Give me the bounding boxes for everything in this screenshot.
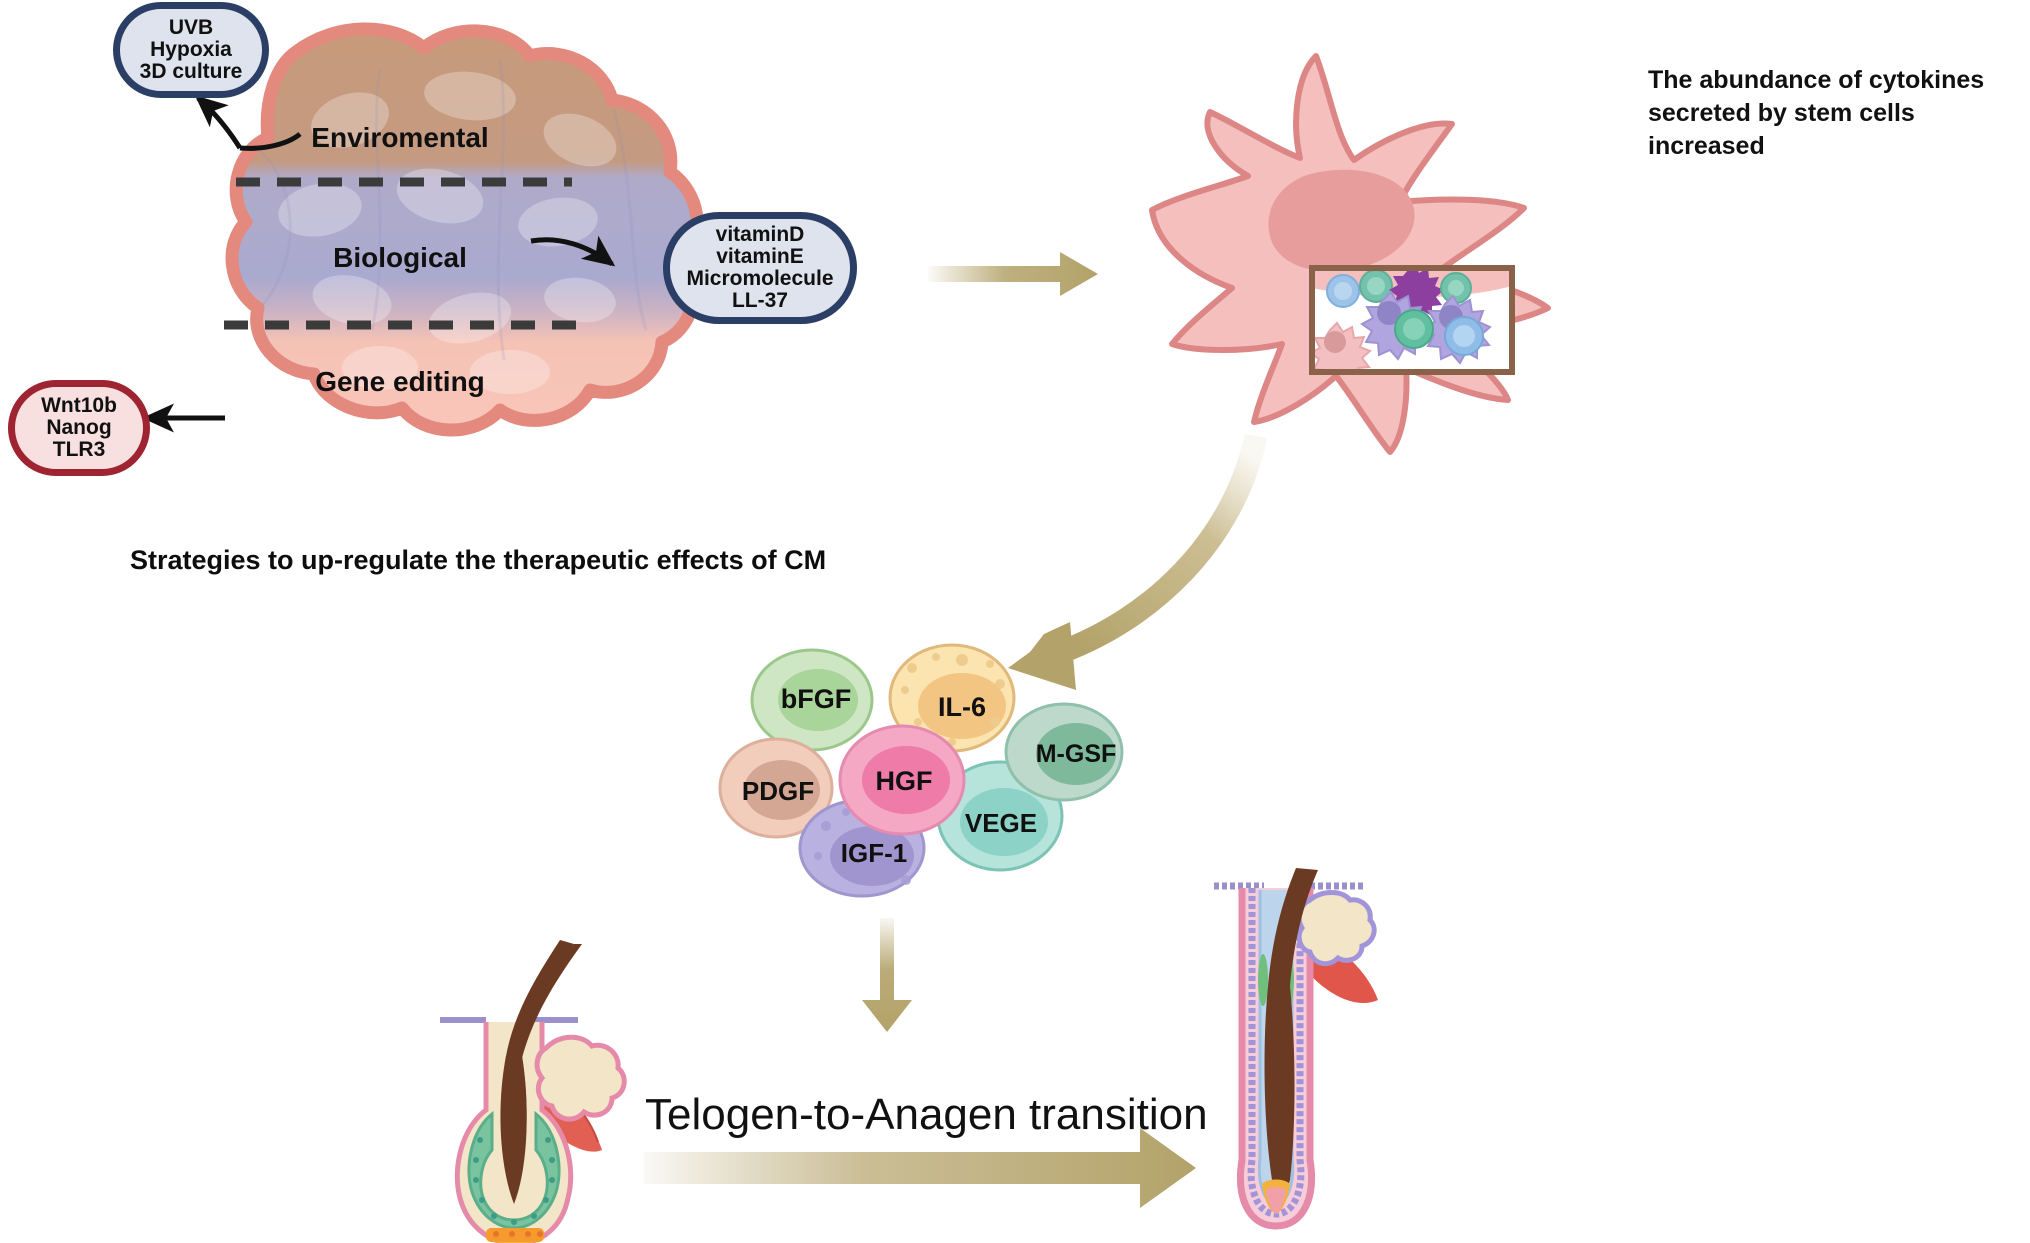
callout-line: Nanog [46, 417, 111, 439]
strategies-title: Strategies to up-regulate the therapeuti… [130, 545, 826, 576]
callout-line: vitaminE [716, 246, 804, 268]
callout-line: Micromolecule [686, 268, 833, 290]
cytokine-label-mgsf: M-GSF [1016, 740, 1136, 769]
region-label-environmental: Enviromental [290, 122, 510, 154]
arrow-telogen-to-anagen [644, 1128, 1196, 1208]
callout-line: vitaminD [716, 224, 805, 246]
gene-editing-callout[interactable]: Wnt10b Nanog TLR3 [8, 380, 150, 476]
environmental-callout[interactable]: UVB Hypoxia 3D culture [113, 2, 269, 98]
cytokine-label-vege: VEGE [944, 808, 1058, 839]
arrow-mass-to-cell [928, 252, 1098, 296]
telogen-follicle [440, 940, 624, 1243]
region-label-gene-editing: Gene editing [288, 366, 512, 398]
headline-line-2: secreted by stem cells increased [1648, 97, 2030, 163]
headline-cytokine-abundance: The abundance of cytokines secreted by s… [1648, 64, 2030, 163]
arrow-cell-to-cytokines [1008, 436, 1256, 690]
callout-line: Wnt10b [41, 395, 117, 417]
cell-inset-contents [1310, 264, 1512, 384]
cytokine-label-pdgf: PDGF [720, 776, 836, 807]
cytokine-label-bfgf: bFGF [762, 684, 870, 715]
region-label-biological: Biological [290, 242, 510, 274]
callout-line: Hypoxia [150, 39, 232, 61]
cytokine-label-hgf: HGF [852, 766, 956, 797]
callout-line: TLR3 [53, 439, 106, 461]
arrow-cytokines-to-follicle [862, 918, 912, 1032]
figure-canvas: Enviromental Biological Gene editing UVB… [0, 0, 2030, 1243]
anagen-follicle [1214, 868, 1378, 1226]
callout-line: LL-37 [732, 290, 788, 312]
callout-line: UVB [169, 17, 213, 39]
dendritic-stem-cell [1152, 56, 1548, 452]
callout-line: 3D culture [140, 61, 243, 83]
cytokine-label-il6: IL-6 [908, 692, 1016, 723]
biological-callout[interactable]: vitaminD vitaminE Micromolecule LL-37 [663, 212, 857, 324]
cytokine-label-igf1: IGF-1 [822, 838, 926, 869]
transition-label: Telogen-to-Anagen transition [645, 1090, 1208, 1140]
dermal-papilla [486, 1228, 544, 1243]
artwork-layer [0, 0, 2030, 1243]
headline-line-1: The abundance of cytokines [1648, 64, 2030, 97]
